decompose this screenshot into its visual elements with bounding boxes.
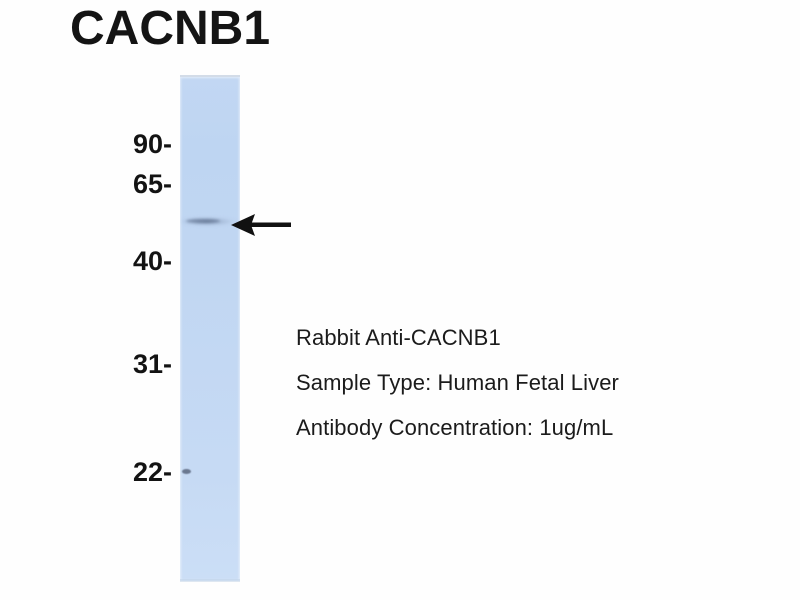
mw-marker-31: 31- xyxy=(133,351,172,378)
annotation-antibody-concentration: Antibody Concentration: 1ug/mL xyxy=(296,405,756,450)
mw-marker-90: 90- xyxy=(133,131,172,158)
annotation-antibody: Rabbit Anti-CACNB1 xyxy=(296,315,756,360)
mw-marker-22: 22- xyxy=(133,459,172,486)
mw-marker-65: 65- xyxy=(133,171,172,198)
mw-marker-40: 40- xyxy=(133,248,172,275)
western-blot-figure: CACNB1 90- 65- 40- 31- 22- Rabbit Anti-C… xyxy=(0,0,800,600)
target-band-core xyxy=(186,219,220,223)
mw-marker-column: 90- 65- 40- 31- 22- xyxy=(0,0,172,600)
blot-lane xyxy=(180,77,240,581)
lane-bottom-edge xyxy=(180,579,240,582)
annotation-sample-type: Sample Type: Human Fetal Liver xyxy=(296,360,756,405)
band-indicator-arrow-icon xyxy=(231,210,291,240)
annotation-block: Rabbit Anti-CACNB1 Sample Type: Human Fe… xyxy=(296,315,756,450)
low-mw-dot-band xyxy=(182,469,191,474)
